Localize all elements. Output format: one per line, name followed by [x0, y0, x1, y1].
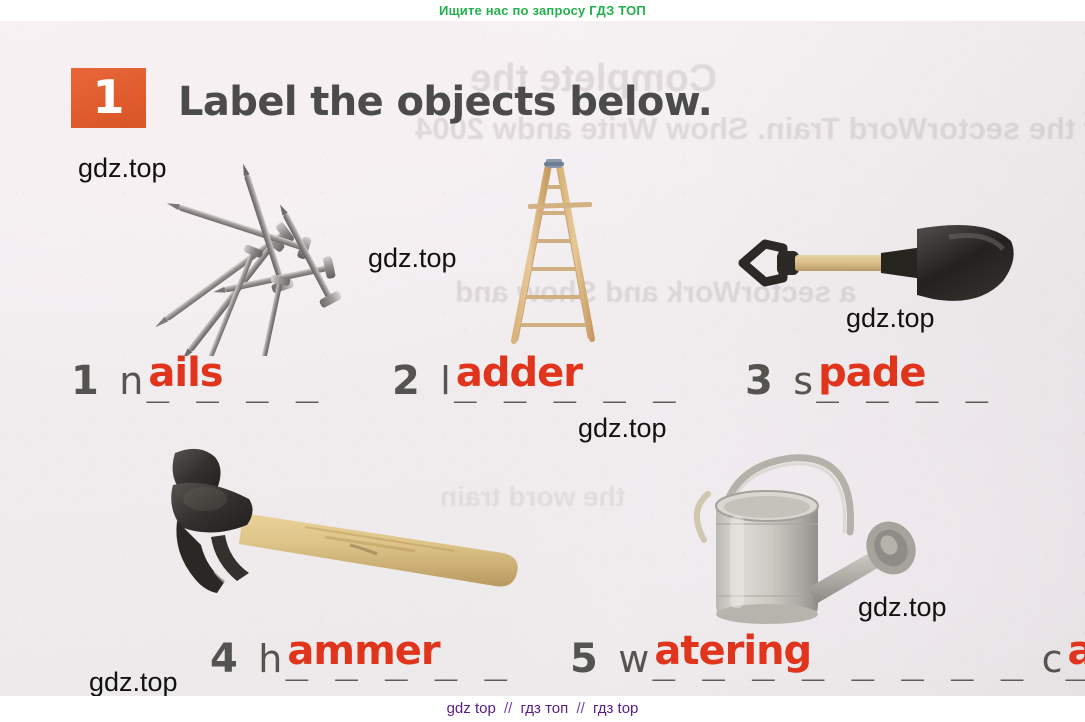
blank-field-3[interactable]: _ _ _ _ pade: [816, 359, 990, 403]
item-prefix-4: h: [258, 637, 282, 681]
item-number-3: 3: [745, 358, 773, 404]
exercise-number-badge: 1: [71, 68, 146, 128]
answer-row-2: 2 l _ _ _ _ _ adder: [392, 358, 678, 404]
exercise-number: 1: [71, 70, 146, 124]
item-number-2: 2: [392, 358, 420, 404]
blank-field-4[interactable]: _ _ _ _ _ ammer: [285, 637, 509, 681]
student-answer-1: ails: [148, 350, 222, 396]
top-promo-text: Ищите нас по запросу ГДЗ ТОП: [439, 3, 646, 18]
answer-row-4: 4 h _ _ _ _ _ ammer: [210, 636, 509, 682]
bottom-promo-banner: gdz top // гдз топ // гдз top: [0, 696, 1085, 722]
item-number-5: 5: [570, 636, 598, 682]
picture-nails: [118, 161, 378, 356]
watermark-4: gdz.top: [578, 413, 667, 444]
answer-row-1: 1 n _ _ _ _ ails: [71, 358, 321, 404]
watermark-2: gdz.top: [368, 243, 457, 274]
watermark-1: gdz.top: [78, 153, 167, 184]
picture-ladder: [498, 151, 608, 351]
item-prefix-5: w: [618, 637, 649, 681]
workbook-page-scan: Complete the 100Ser the sectorWord Train…: [0, 21, 1085, 696]
bottom-promo-sep-1: //: [500, 700, 516, 717]
student-answer-5a: atering: [654, 628, 811, 674]
watermark-6: gdz.top: [89, 667, 178, 696]
watermark-3: gdz.top: [846, 303, 935, 334]
top-promo-banner: Ищите нас по запросу ГДЗ ТОП: [0, 0, 1085, 21]
exercise-title: Label the objects below.: [178, 79, 712, 125]
student-answer-3: pade: [818, 350, 925, 396]
bottom-promo-mid: гдз топ: [521, 700, 569, 717]
bottom-promo-sep-2: //: [572, 700, 588, 717]
picture-hammer: [155, 441, 545, 616]
blank-field-1[interactable]: _ _ _ _ ails: [146, 359, 320, 403]
answer-row-3: 3 s _ _ _ _ pade: [745, 358, 990, 404]
bottom-promo-right: гдз top: [593, 700, 638, 717]
picture-spade: [735, 211, 1020, 316]
item-prefix-1: n: [119, 359, 143, 403]
student-answer-5b: an: [1067, 628, 1085, 674]
blank-field-2[interactable]: _ _ _ _ _ adder: [454, 359, 678, 403]
bottom-promo-left: gdz top: [447, 700, 496, 717]
student-answer-2: adder: [456, 350, 582, 396]
item-number-1: 1: [71, 358, 99, 404]
student-answer-4: ammer: [287, 628, 439, 674]
item-number-4: 4: [210, 636, 238, 682]
blank-field-5b[interactable]: _ _ an: [1065, 637, 1085, 681]
item-prefix-2: l: [440, 359, 451, 403]
answer-row-5: 5 w _ _ _ _ _ _ _ _ atering c _ _ an: [570, 636, 1085, 682]
item-prefix-3: s: [793, 359, 813, 403]
item-prefix-5b: c: [1042, 637, 1063, 681]
blank-field-5a[interactable]: _ _ _ _ _ _ _ _ atering: [652, 637, 1025, 681]
watermark-5: gdz.top: [858, 592, 947, 623]
